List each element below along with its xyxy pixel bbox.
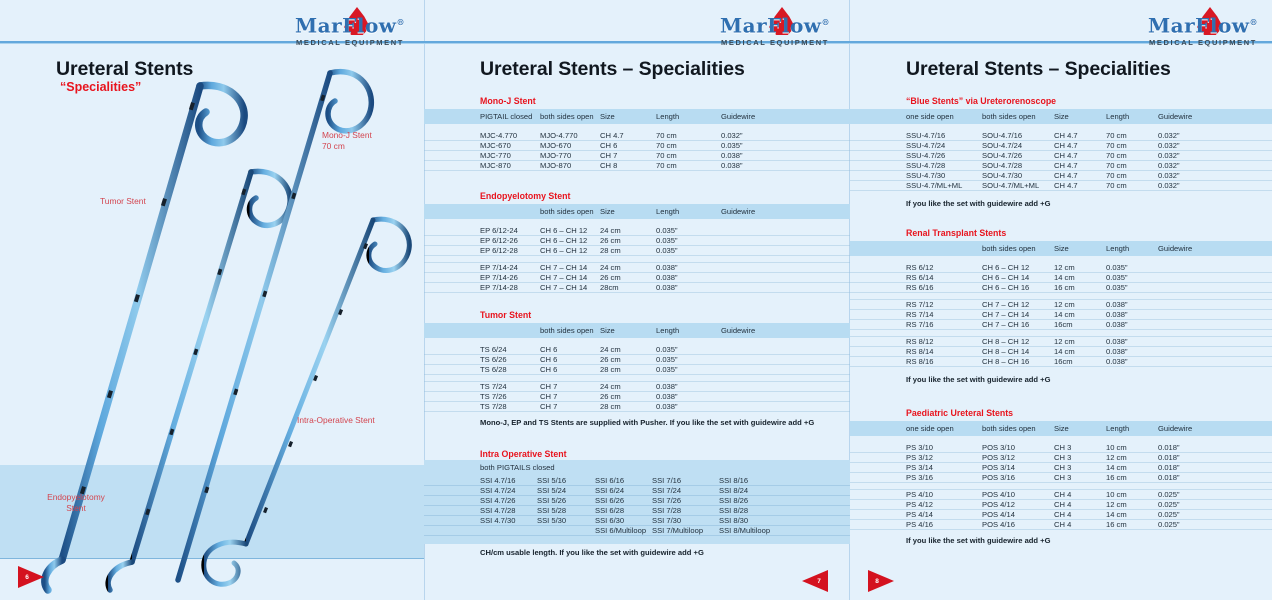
cell: 16 cm [1106,520,1158,530]
table-row: MJC-870MJO-870CH 870 cm0.038” [424,161,850,171]
label-tumor-stent: Tumor Stent [100,196,146,207]
section-heading: Mono-J Stent [480,96,850,106]
cell: 12 cm [1054,300,1106,310]
cell: MJO-870 [540,161,600,171]
table-header-row: both sides open Size Length Guidewire [850,241,1272,256]
cell: SSI 6/Multiloop [595,526,652,536]
cell: SSI 6/30 [595,516,652,526]
cell: 0.038” [656,273,721,283]
cell: 0.038” [721,161,850,171]
col-header: Guidewire [1158,421,1272,436]
col-header [906,241,982,256]
cell: PS 4/10 [906,490,982,500]
cell: 0.018” [1158,453,1272,463]
cell: SSI 8/26 [719,496,850,506]
logo-tagline: MEDICAL EQUIPMENT [1128,38,1272,47]
cell: CH 6 – CH 12 [540,246,600,256]
header-spacer [850,109,906,124]
logo-tagline: MEDICAL EQUIPMENT [275,38,425,47]
cell: CH 4.7 [1054,131,1106,141]
cell: 16cm [1054,320,1106,330]
cell: 70 cm [656,151,721,161]
cell: 14 cm [1106,463,1158,473]
cell: CH 4.7 [1054,161,1106,171]
header-spacer [850,241,906,256]
cell: TS 6/24 [480,345,540,355]
table-tumor-stent: both sides open Size Length Guidewire TS… [424,323,850,412]
cell: 0.038” [1106,357,1158,367]
col-header [480,204,540,219]
cell: CH 8 – CH 12 [982,337,1054,347]
table-row: MJC-670MJO-670CH 670 cm0.035” [424,141,850,151]
catalog-spread: MarFlow® MEDICAL EQUIPMENT MarFlow® MEDI… [0,0,1272,600]
cell: SSI 5/16 [537,476,595,486]
cell: 0.018” [1158,473,1272,483]
cell: CH 7 – CH 14 [540,283,600,293]
logo-middle: MarFlow® MEDICAL EQUIPMENT [700,11,850,45]
col-header: both sides open [982,109,1054,124]
cell: RS 8/14 [906,347,982,357]
table-row: SSU-4.7/26SOU-4.7/26CH 4.770 cm0.032” [850,151,1272,161]
cell: TS 7/26 [480,392,540,402]
stent-endopyelotomy [108,171,290,590]
col-header: Guidewire [1158,109,1272,124]
cell: CH 7 – CH 14 [540,263,600,273]
cell: CH 7 [540,392,600,402]
label-endo-line2: Stent [28,503,124,514]
cell: SSI 7/24 [652,486,719,496]
header-spacer [424,323,480,338]
logo-right: MarFlow® MEDICAL EQUIPMENT [1128,11,1272,45]
col-header: Length [1106,241,1158,256]
cell: RS 7/14 [906,310,982,320]
table-row: SSU-4.7/28SOU-4.7/28CH 4.770 cm0.032” [850,161,1272,171]
table-row: PS 4/10POS 4/10CH 410 cm0.025” [850,490,1272,500]
cell: SSU-4.7/30 [906,171,982,181]
col-header: Guidewire [721,109,850,124]
cell: 0.032” [1158,161,1272,171]
logo-word-2: Flow [342,14,396,38]
cell: CH 6 – CH 12 [982,263,1054,273]
cell: 70 cm [656,141,721,151]
cell: 16 cm [1054,283,1106,293]
col-header: Length [656,323,721,338]
table-header-row: both sides open Size Length Guidewire [424,204,850,219]
table-row: PS 3/10POS 3/10CH 310 cm0.018” [850,443,1272,453]
logo-word-1: Mar [1148,14,1195,38]
table-intra-operative: SSI 4.7/16SSI 5/16SSI 6/16SSI 7/16SSI 8/… [424,476,850,536]
table-row: PS 3/16POS 3/16CH 316 cm0.018” [850,473,1272,483]
col-header: Size [600,323,656,338]
cell: 0.018” [1158,463,1272,473]
table-row: TS 7/26CH 726 cm0.038” [424,392,850,402]
col-header: Size [1054,109,1106,124]
cell: CH 4 [1054,510,1106,520]
cell: TS 6/28 [480,365,540,375]
section-endopyelotomy-stent: Endopyelotomy Stent both sides open Size… [424,191,850,293]
logo-wordmark: MarFlow® [275,11,425,37]
cell: CH 7 – CH 14 [540,273,600,283]
col-header: Size [600,204,656,219]
cell: PS 3/12 [906,453,982,463]
table-header-row: both sides open Size Length Guidewire [424,323,850,338]
cell: SOU-4.7/30 [982,171,1054,181]
section-heading: “Blue Stents” via Ureterorenoscope [906,96,1272,106]
col-header: Size [600,109,656,124]
table-row: SSU-4.7/ML+MLSOU-4.7/ML+MLCH 4.770 cm0.0… [850,181,1272,191]
cell: EP 7/14-24 [480,263,540,273]
cell: CH 4 [1054,490,1106,500]
table-row: RS 7/16CH 7 – CH 1616cm0.038” [850,320,1272,330]
col-header: both sides open [982,421,1054,436]
cell: EP 6/12-24 [480,226,540,236]
cell: CH 8 – CH 16 [982,357,1054,367]
cell: POS 4/14 [982,510,1054,520]
page-number: 8 [875,578,879,585]
cell: RS 7/16 [906,320,982,330]
col-header: both sides open [540,204,600,219]
table-row: EP 6/12-28CH 6 – CH 1228 cm0.035” [424,246,850,256]
note-guidewire-blue: If you like the set with guidewire add +… [906,199,1051,208]
table-row: SSU-4.7/16SOU-4.7/16CH 4.770 cm0.032” [850,131,1272,141]
table-row: SSI 4.7/28SSI 5/28SSI 6/28SSI 7/28SSI 8/… [424,506,850,516]
cell: 0.025” [1158,520,1272,530]
table-row: EP 6/12-26CH 6 – CH 1226 cm0.035” [424,236,850,246]
cell: 0.032” [1158,131,1272,141]
table-row: SSI 4.7/24SSI 5/24SSI 6/24SSI 7/24SSI 8/… [424,486,850,496]
cell: CH 6 – CH 16 [982,283,1054,293]
cell: 16cm [1054,357,1106,367]
table-row: EP 7/14-28CH 7 – CH 1428cm0.038” [424,283,850,293]
cell: SSI 5/28 [537,506,595,516]
cell: SSI 4.7/28 [480,506,537,516]
cell: 0.038” [656,382,721,392]
cell: PS 4/14 [906,510,982,520]
cell: 0.032” [1158,141,1272,151]
cell: PS 3/16 [906,473,982,483]
cell: SOU-4.7/24 [982,141,1054,151]
table-blue-stents: one side open both sides open Size Lengt… [850,109,1272,191]
cell: CH 3 [1054,453,1106,463]
cell: RS 6/14 [906,273,982,283]
cell: 0.038” [1106,347,1158,357]
cell [480,526,537,536]
cell: 0.035” [1106,263,1158,273]
cell: CH 6 [540,355,600,365]
cell: SSI 7/26 [652,496,719,506]
middle-page-title: Ureteral Stents – Specialities [480,58,745,81]
table-row: PS 4/12POS 4/12CH 412 cm0.025” [850,500,1272,510]
cell: 28cm [600,283,656,293]
table-row: PS 4/16POS 4/16CH 416 cm0.025” [850,520,1272,530]
cell: 10 cm [1106,443,1158,453]
cell: 0.032” [1158,151,1272,161]
col-header: one side open [906,109,982,124]
cell: 70 cm [1106,141,1158,151]
cell: 0.035” [721,141,850,151]
cell: 0.035” [656,236,721,246]
table-header-row: PIGTAIL closed both sides open Size Leng… [424,109,850,124]
cell: MJC-770 [480,151,540,161]
cell: 16 cm [1106,473,1158,483]
col-header: one side open [906,421,982,436]
table-row: RS 7/14CH 7 – CH 1414 cm0.038” [850,310,1272,320]
cell: 0.035” [1106,283,1158,293]
logo-word-1: Mar [295,14,342,38]
cell: 14 cm [1054,310,1106,320]
cell: SSI 7/28 [652,506,719,516]
cell: 14 cm [1054,273,1106,283]
cell: RS 7/12 [906,300,982,310]
cell: 70 cm [1106,131,1158,141]
cell: SSU-4.7/16 [906,131,982,141]
table-row: SSI 4.7/30SSI 5/30SSI 6/30SSI 7/30SSI 8/… [424,516,850,526]
cell: SSU-4.7/24 [906,141,982,151]
cell: SSI 4.7/30 [480,516,537,526]
cell: 0.038” [656,402,721,412]
intra-operative-caption: both PIGTAILS closed [480,460,850,476]
cell: 70 cm [1106,161,1158,171]
label-mono-j-stent: Mono-J Stent 70 cm [322,130,372,152]
table-row: TS 6/26CH 626 cm0.035” [424,355,850,365]
cell: RS 6/16 [906,283,982,293]
table-renal-transplant-stents: both sides open Size Length Guidewire RS… [850,241,1272,367]
cell: POS 3/10 [982,443,1054,453]
cell: MJC-4.770 [480,131,540,141]
label-mono-j-line1: Mono-J Stent [322,130,372,141]
section-heading-intra-operative: Intra Operative Stent [480,449,567,459]
cell: CH 6 – CH 12 [540,226,600,236]
table-row: EP 7/14-24CH 7 – CH 1424 cm0.038” [424,263,850,273]
cell: 28 cm [600,246,656,256]
section-heading: Paediatric Ureteral Stents [906,408,1272,418]
note-pusher-guidewire: Mono-J, EP and TS Stents are supplied wi… [480,418,814,427]
cell: SSI 5/26 [537,496,595,506]
logo-trademark: ® [397,17,406,27]
cell: SSU-4.7/ML+ML [906,181,982,191]
section-mono-j-stent: Mono-J Stent PIGTAIL closed both sides o… [424,96,850,171]
cell: CH 4.7 [1054,141,1106,151]
note-guidewire-paediatric: If you like the set with guidewire add +… [906,536,1051,545]
table-row: RS 7/12CH 7 – CH 1212 cm0.038” [850,300,1272,310]
cell: 70 cm [1106,151,1158,161]
page-number: 6 [25,574,29,581]
section-heading: Endopyelotomy Stent [480,191,850,201]
table-row: MJC-4.770MJO-4.770CH 4.770 cm0.032” [424,131,850,141]
cell: 12 cm [1054,263,1106,273]
table-row: PS 3/12POS 3/12CH 312 cm0.018” [850,453,1272,463]
table-header-row: one side open both sides open Size Lengt… [850,421,1272,436]
label-endo-line1: Endopyelotomy [28,492,124,503]
cell: CH 4.7 [600,131,656,141]
cell: CH 8 – CH 14 [982,347,1054,357]
cell: 0.038” [656,263,721,273]
cell: SSI 8/28 [719,506,850,516]
header-spacer [850,421,906,436]
cell: TS 7/28 [480,402,540,412]
cell: MJO-770 [540,151,600,161]
table-row: TS 6/28CH 628 cm0.035” [424,365,850,375]
cell: SOU-4.7/28 [982,161,1054,171]
note-usable-length: CH/cm usable length. If you like the set… [480,548,704,557]
cell: CH 6 – CH 14 [982,273,1054,283]
cell: CH 3 [1054,443,1106,453]
table-row: MJC-770MJO-770CH 770 cm0.038” [424,151,850,161]
cell: CH 3 [1054,473,1106,483]
cell: 12 cm [1106,453,1158,463]
cell: RS 8/16 [906,357,982,367]
cell: SSI 8/30 [719,516,850,526]
cell: CH 4.7 [1054,151,1106,161]
col-header: Length [656,109,721,124]
cell: POS 4/12 [982,500,1054,510]
cell: 12 cm [1054,337,1106,347]
cell: RS 6/12 [906,263,982,273]
cell: SSI 7/16 [652,476,719,486]
cell: CH 6 [540,345,600,355]
table-row: PS 3/14POS 3/14CH 314 cm0.018” [850,463,1272,473]
section-tumor-stent: Tumor Stent both sides open Size Length … [424,310,850,412]
table-row: SSU-4.7/30SOU-4.7/30CH 4.770 cm0.032” [850,171,1272,181]
logo-word-2: Flow [767,14,821,38]
cell: SSI 6/16 [595,476,652,486]
section-heading: Renal Transplant Stents [906,228,1272,238]
cell: 14 cm [1054,347,1106,357]
table-row: SSI 6/MultiloopSSI 7/MultiloopSSI 8/Mult… [424,526,850,536]
cell: EP 7/14-26 [480,273,540,283]
cell: SSI 4.7/24 [480,486,537,496]
col-header: Size [1054,421,1106,436]
table-mono-j-stent: PIGTAIL closed both sides open Size Leng… [424,109,850,171]
header-spacer [424,109,480,124]
cell: MJC-670 [480,141,540,151]
cell: SSI 5/24 [537,486,595,496]
table-row: RS 6/16CH 6 – CH 1616 cm0.035” [850,283,1272,293]
cell: SSI 4.7/16 [480,476,537,486]
cell: TS 6/26 [480,355,540,365]
cell: 26 cm [600,392,656,402]
cell: SSI 6/26 [595,496,652,506]
table-row: SSI 4.7/16SSI 5/16SSI 6/16SSI 7/16SSI 8/… [424,476,850,486]
intra-operative-block: both PIGTAILS closed SSI 4.7/16SSI 5/16S… [424,460,850,544]
cell: 28 cm [600,402,656,412]
cell: 0.038” [721,151,850,161]
cell: 70 cm [656,131,721,141]
cell: CH 4 [1054,520,1106,530]
section-blue-stents: “Blue Stents” via Ureterorenoscope one s… [850,96,1272,191]
section-heading: Tumor Stent [480,310,850,320]
cell: CH 6 [600,141,656,151]
cell: SSI 8/Multiloop [719,526,850,536]
col-header: Length [656,204,721,219]
cell: POS 3/12 [982,453,1054,463]
cell: 26 cm [600,273,656,283]
cell: SSI 4.7/26 [480,496,537,506]
cell: 0.025” [1158,510,1272,520]
cell: CH 4.7 [1054,171,1106,181]
cell: 0.038” [656,392,721,402]
cell: SSI 6/28 [595,506,652,516]
col-header: Guidewire [721,323,850,338]
col-header [480,323,540,338]
cell: 0.032” [721,131,850,141]
col-header: PIGTAIL closed [480,109,540,124]
cell: 0.035” [656,355,721,365]
cell: CH 4.7 [1054,181,1106,191]
table-row: RS 8/14CH 8 – CH 1414 cm0.038” [850,347,1272,357]
logo-tagline: MEDICAL EQUIPMENT [700,38,850,47]
table-row: EP 7/14-26CH 7 – CH 1426 cm0.038” [424,273,850,283]
table-row: TS 7/28CH 728 cm0.038” [424,402,850,412]
cell: EP 6/12-28 [480,246,540,256]
cell: CH 7 – CH 16 [982,320,1054,330]
right-page-title: Ureteral Stents – Specialities [906,58,1171,81]
left-page-subtitle: “Specialities” [60,80,141,94]
cell: SSU-4.7/28 [906,161,982,171]
cell: 0.032” [1158,171,1272,181]
cell: 0.035” [1106,273,1158,283]
cell: 0.038” [1106,337,1158,347]
table-row: EP 6/12-24CH 6 – CH 1224 cm0.035” [424,226,850,236]
cell: CH 7 [540,402,600,412]
note-guidewire-renal: If you like the set with guidewire add +… [906,375,1051,384]
cell: POS 4/16 [982,520,1054,530]
cell: RS 8/12 [906,337,982,347]
cell: PS 3/14 [906,463,982,473]
page-number: 7 [817,578,821,585]
section-paediatric-stents: Paediatric Ureteral Stents one side open… [850,408,1272,530]
header-rule-highlight [0,43,1272,44]
cell: SSI 7/Multiloop [652,526,719,536]
cell: 0.038” [1106,310,1158,320]
cell: EP 6/12-26 [480,236,540,246]
header-spacer [424,204,480,219]
cell: 14 cm [1106,510,1158,520]
table-row: SSU-4.7/24SOU-4.7/24CH 4.770 cm0.032” [850,141,1272,151]
logo-word-2: Flow [1195,14,1249,38]
col-header: both sides open [540,109,600,124]
cell: PS 4/16 [906,520,982,530]
logo-word-1: Mar [720,14,767,38]
cell: 0.018” [1158,443,1272,453]
cell: 26 cm [600,236,656,246]
cell: CH 6 [540,365,600,375]
cell: MJO-4.770 [540,131,600,141]
cell: 26 cm [600,355,656,365]
cell: SSI 8/24 [719,486,850,496]
logo-wordmark: MarFlow® [700,11,850,37]
col-header: Length [1106,109,1158,124]
cell: CH 7 – CH 12 [982,300,1054,310]
cell: EP 7/14-28 [480,283,540,293]
table-header-row: one side open both sides open Size Lengt… [850,109,1272,124]
table-row: RS 6/14CH 6 – CH 1414 cm0.035” [850,273,1272,283]
stent-intra-operative [204,219,410,584]
cell: 0.025” [1158,490,1272,500]
cell: SOU-4.7/ML+ML [982,181,1054,191]
cell: POS 3/14 [982,463,1054,473]
cell: MJC-870 [480,161,540,171]
table-row: SSI 4.7/26SSI 5/26SSI 6/26SSI 7/26SSI 8/… [424,496,850,506]
cell: 28 cm [600,365,656,375]
cell: 0.035” [656,345,721,355]
cell: POS 4/10 [982,490,1054,500]
section-renal-transplant-stents: Renal Transplant Stents both sides open … [850,228,1272,367]
cell: 0.035” [656,365,721,375]
cell: SOU-4.7/16 [982,131,1054,141]
col-header: both sides open [982,241,1054,256]
table-row: RS 6/12CH 6 – CH 1212 cm0.035” [850,263,1272,273]
